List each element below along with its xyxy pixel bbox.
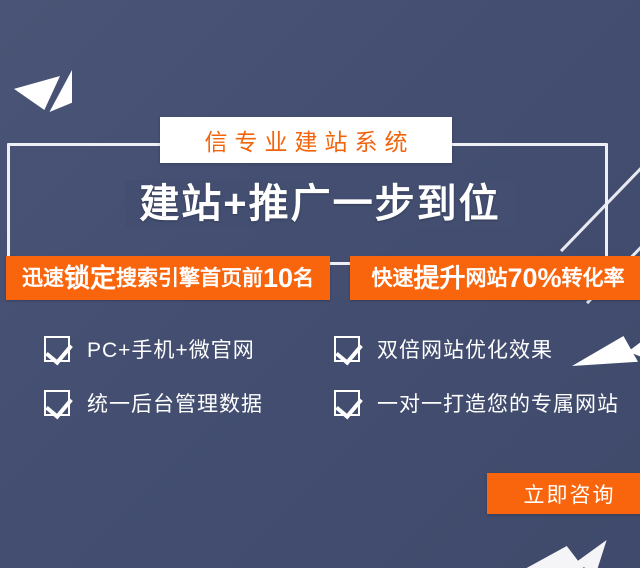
feature-item: 统一后台管理数据 <box>44 388 263 418</box>
checkbox-checked-icon <box>44 390 70 416</box>
promo-banner: 信专业建站系统 建站+推广一步到位 迅速 锁定 搜索引擎首页前 10 名 快速 … <box>0 0 640 568</box>
feature-list: PC+手机+微官网 双倍网站优化效果 统一后台管理数据 一对一打造您的专属网站 <box>0 330 640 430</box>
paper-plane-icon <box>512 536 608 568</box>
bar-segment: 转化率 <box>562 268 625 289</box>
bar-segment: 网站 <box>465 268 507 289</box>
highlight-bar-seo-rank: 迅速 锁定 搜索引擎首页前 10 名 <box>6 256 330 300</box>
bar-segment: 迅速 <box>22 268 64 289</box>
consult-now-button[interactable]: 立即咨询 <box>487 473 640 514</box>
checkbox-checked-icon <box>334 336 360 362</box>
bar-segment: 锁定 <box>64 265 116 291</box>
bar-segment-number: 10 <box>263 265 293 292</box>
headline-text: 建站+推广一步到位 <box>125 180 514 228</box>
checkbox-checked-icon <box>334 390 360 416</box>
feature-item: 一对一打造您的专属网站 <box>334 388 619 418</box>
paper-plane-wing-left <box>14 76 60 110</box>
feature-label: 双倍网站优化效果 <box>377 334 553 364</box>
bar-segment-number: 70% <box>507 265 561 292</box>
bar-segment: 名 <box>293 268 314 289</box>
feature-label: PC+手机+微官网 <box>87 334 255 364</box>
page-title: 建站+推广一步到位 <box>0 180 640 228</box>
paper-plane-wing-left <box>512 546 586 568</box>
feature-label: 统一后台管理数据 <box>87 388 263 418</box>
feature-item: PC+手机+微官网 <box>44 334 255 364</box>
highlight-bar-conversion-rate: 快速 提升 网站 70% 转化率 <box>350 256 640 300</box>
title-badge-label: 信专业建站系统 <box>198 123 415 157</box>
title-badge: 信专业建站系统 <box>160 117 452 163</box>
paper-plane-icon <box>14 62 74 114</box>
feature-label: 一对一打造您的专属网站 <box>377 388 619 418</box>
consult-now-label: 立即咨询 <box>524 479 616 509</box>
bar-segment: 提升 <box>413 265 465 291</box>
paper-plane-wing-right <box>574 540 608 568</box>
bar-segment: 快速 <box>371 268 413 289</box>
checkbox-checked-icon <box>44 336 70 362</box>
feature-item: 双倍网站优化效果 <box>334 334 553 364</box>
bar-segment: 搜索引擎首页前 <box>116 268 263 289</box>
